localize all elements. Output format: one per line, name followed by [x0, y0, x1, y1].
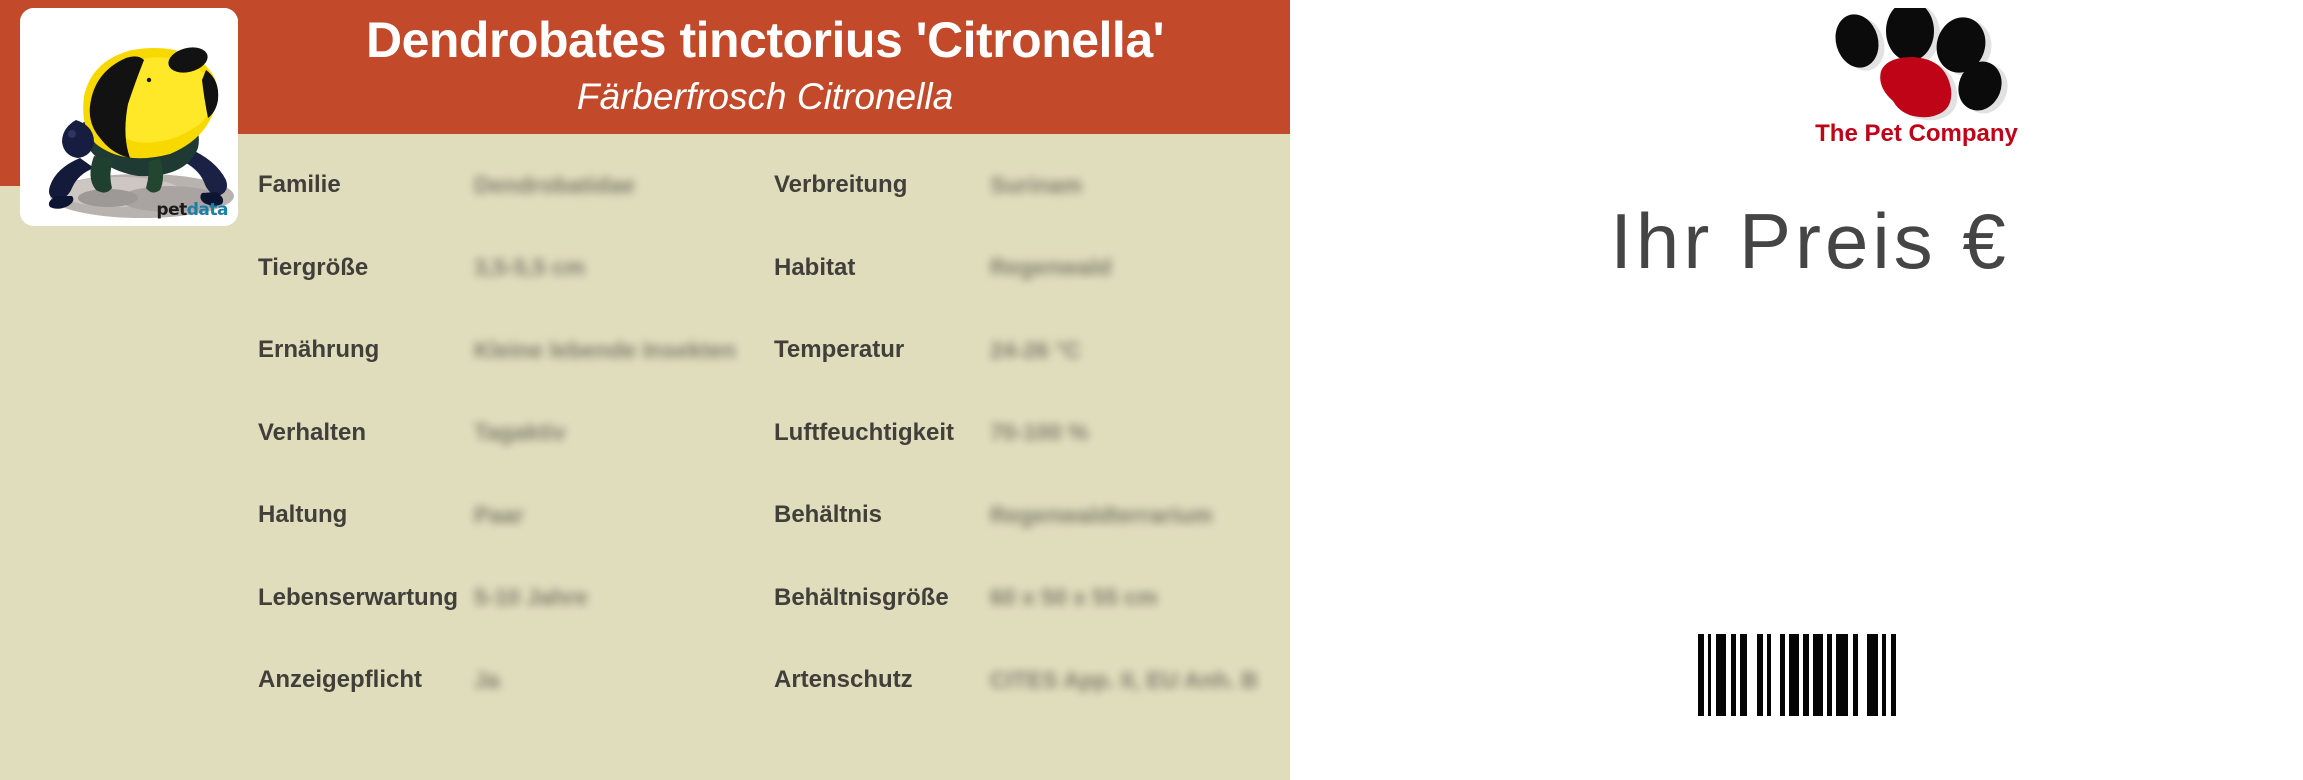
price-label: Ihr Preis €: [1320, 196, 2300, 287]
brand-company-name: The Pet Company: [1787, 120, 2047, 148]
attribute-label: Artenschutz: [774, 666, 990, 694]
attribute-value: 70-100 %: [990, 419, 1088, 446]
petdata-watermark: petdata: [156, 200, 228, 220]
attribute-label: Behältnisgröße: [774, 584, 990, 612]
attribute-label: Temperatur: [774, 336, 990, 364]
attribute-value: Regenwaldterrarium: [990, 502, 1212, 529]
attribute-label: Tiergröße: [258, 254, 474, 282]
attribute-row: Lebenserwartung 5-10 Jahre: [258, 557, 774, 640]
paw-print-icon: [1787, 8, 2047, 126]
attribute-value: 24-26 °C: [990, 337, 1081, 364]
attribute-value: Ja: [474, 667, 500, 694]
attribute-row: Verhalten Tagaktiv: [258, 392, 774, 475]
barcode-bar: [1867, 634, 1878, 716]
attribute-label: Haltung: [258, 501, 474, 529]
attribute-value: Kleine lebende Insekten: [474, 337, 736, 364]
barcode-bar: [1836, 634, 1848, 716]
petdata-watermark-part2: data: [187, 200, 228, 220]
barcode-space: [1858, 634, 1867, 716]
attribute-label: Lebenserwartung: [258, 584, 474, 612]
product-barcode: [1698, 634, 1896, 716]
attribute-row: Ernährung Kleine lebende Insekten: [258, 309, 774, 392]
barcode-bar: [1891, 634, 1896, 716]
barcode-bar: [1789, 634, 1799, 716]
attribute-row: Behältnis Regenwaldterrarium: [774, 474, 1290, 557]
title-block: Dendrobates tinctorius 'Citronella' Färb…: [250, 12, 1280, 120]
frog-illustration-icon: [20, 8, 238, 226]
attribute-row: Familie Dendrobatidae: [258, 144, 774, 227]
main-info-panel: Dendrobates tinctorius 'Citronella' Färb…: [0, 0, 1290, 780]
price-panel: The Pet Company Ihr Preis €: [1290, 0, 2303, 780]
barcode-space: [1747, 634, 1757, 716]
attribute-label: Behältnis: [774, 501, 990, 529]
species-photo-card: petdata: [20, 8, 238, 226]
attribute-label: Habitat: [774, 254, 990, 282]
attribute-value: Surinam: [990, 172, 1082, 199]
barcode-bar: [1813, 634, 1823, 716]
attribute-label: Familie: [258, 171, 474, 199]
attribute-value: 60 x 50 x 55 cm: [990, 584, 1158, 611]
attribute-label: Luftfeuchtigkeit: [774, 419, 990, 447]
attribute-row: Artenschutz CITES App. II, EU Anh. B: [774, 639, 1290, 722]
pet-label-card: Dendrobates tinctorius 'Citronella' Färb…: [0, 0, 2303, 780]
attribute-label: Ernährung: [258, 336, 474, 364]
attribute-value: Paar: [474, 502, 524, 529]
attribute-value: Dendrobatidae: [474, 172, 635, 199]
attribute-label: Verbreitung: [774, 171, 990, 199]
attribute-value: 3,5-5,5 cm: [474, 254, 585, 281]
attribute-column-right: Verbreitung Surinam Habitat Regenwald Te…: [774, 144, 1290, 780]
attribute-label: Verhalten: [258, 419, 474, 447]
attribute-column-left: Familie Dendrobatidae Tiergröße 3,5-5,5 …: [258, 144, 774, 780]
attribute-label: Anzeigepflicht: [258, 666, 474, 694]
species-photo: [20, 8, 238, 226]
attribute-row: Anzeigepflicht Ja: [258, 639, 774, 722]
barcode-bar: [1716, 634, 1726, 716]
species-common-name: Färberfrosch Citronella: [250, 74, 1280, 120]
attribute-value: CITES App. II, EU Anh. B: [990, 667, 1258, 694]
attribute-value: Tagaktiv: [474, 419, 566, 446]
species-scientific-name: Dendrobates tinctorius 'Citronella': [250, 12, 1280, 70]
attribute-row: Habitat Regenwald: [774, 227, 1290, 310]
attribute-row: Tiergröße 3,5-5,5 cm: [258, 227, 774, 310]
attribute-row: Temperatur 24-26 °C: [774, 309, 1290, 392]
attribute-row: Luftfeuchtigkeit 70-100 %: [774, 392, 1290, 475]
barcode-space: [1771, 634, 1780, 716]
attribute-row: Verbreitung Surinam: [774, 144, 1290, 227]
attribute-grid: Familie Dendrobatidae Tiergröße 3,5-5,5 …: [0, 134, 1290, 780]
attribute-row: Behältnisgröße 60 x 50 x 55 cm: [774, 557, 1290, 640]
attribute-value: 5-10 Jahre: [474, 584, 588, 611]
attribute-row: Haltung Paar: [258, 474, 774, 557]
attribute-value: Regenwald: [990, 254, 1111, 281]
brand-logo-block: The Pet Company: [1787, 8, 2047, 153]
petdata-watermark-part1: pet: [156, 200, 186, 220]
barcode-bar: [1740, 634, 1747, 716]
